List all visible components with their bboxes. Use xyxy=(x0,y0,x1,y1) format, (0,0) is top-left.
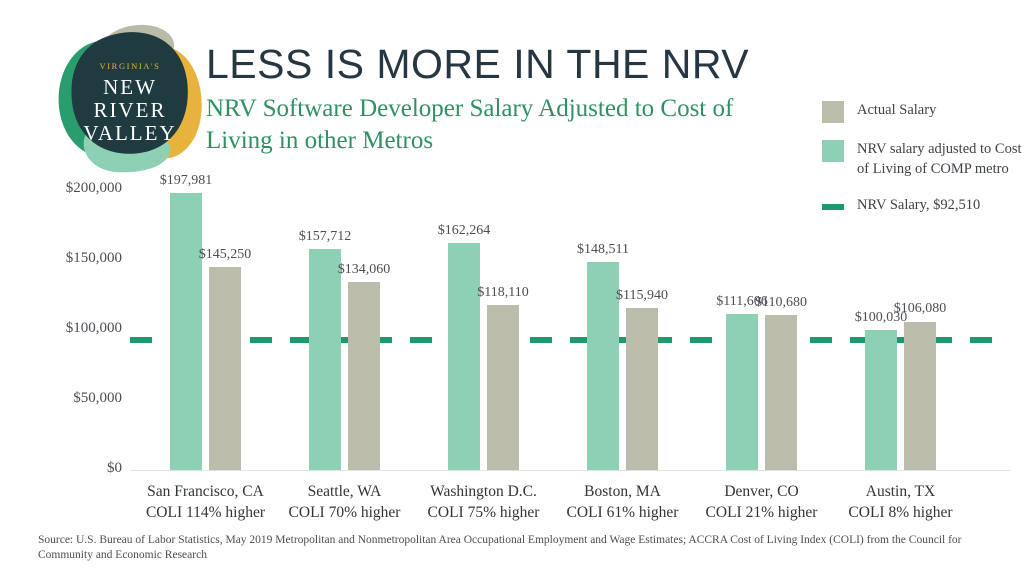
bar xyxy=(904,322,936,471)
x-axis-group-label: Boston, MACOLI 61% higher xyxy=(543,481,703,523)
bar xyxy=(209,267,241,470)
bar xyxy=(626,308,658,470)
bar-value-label: $157,712 xyxy=(280,229,370,245)
x-axis-city-name: Boston, MA xyxy=(543,481,703,502)
x-axis-group-label: San Francisco, CACOLI 114% higher xyxy=(126,481,286,523)
x-axis-city-name: San Francisco, CA xyxy=(126,481,286,502)
bar xyxy=(765,315,797,470)
x-axis-city-name: Seattle, WA xyxy=(265,481,425,502)
source-note: Source: U.S. Bureau of Labor Statistics,… xyxy=(38,533,998,563)
bar-value-label: $145,250 xyxy=(180,247,270,263)
x-axis-group-label: Denver, COCOLI 21% higher xyxy=(682,481,842,523)
bar xyxy=(448,243,480,470)
bar-value-label: $106,080 xyxy=(875,301,965,317)
x-axis-coli-note: COLI 70% higher xyxy=(265,502,425,523)
bar-value-label: $148,511 xyxy=(558,242,648,258)
x-axis-coli-note: COLI 75% higher xyxy=(404,502,564,523)
bar xyxy=(170,193,202,470)
x-axis-group-label: Seattle, WACOLI 70% higher xyxy=(265,481,425,523)
chart-page: VIRGINIA'S NEW RIVER VALLEY LESS IS MORE… xyxy=(0,0,1030,580)
bar-value-label: $115,940 xyxy=(597,288,687,304)
bar xyxy=(726,314,758,470)
x-axis-city-name: Denver, CO xyxy=(682,481,842,502)
bar xyxy=(309,249,341,470)
bar-value-label: $162,264 xyxy=(419,223,509,239)
bar-value-label: $197,981 xyxy=(141,173,231,189)
x-axis-coli-note: COLI 114% higher xyxy=(126,502,286,523)
x-axis-group-label: Austin, TXCOLI 8% higher xyxy=(821,481,981,523)
bar xyxy=(348,282,380,470)
x-axis-coli-note: COLI 8% higher xyxy=(821,502,981,523)
x-axis-city-name: Washington D.C. xyxy=(404,481,564,502)
x-axis-city-name: Austin, TX xyxy=(821,481,981,502)
x-axis-group-label: Washington D.C.COLI 75% higher xyxy=(404,481,564,523)
bar-value-label: $110,680 xyxy=(736,295,826,311)
bar-value-label: $134,060 xyxy=(319,262,409,278)
chart-plot-area: $0$50,000$100,000$150,000$200,000 San Fr… xyxy=(0,0,1030,580)
bar xyxy=(487,305,519,470)
bars-layer xyxy=(0,190,1030,470)
x-axis-coli-note: COLI 61% higher xyxy=(543,502,703,523)
x-axis-coli-note: COLI 21% higher xyxy=(682,502,842,523)
bar xyxy=(865,330,897,470)
x-axis-line xyxy=(130,470,1010,471)
bar-value-label: $118,110 xyxy=(458,285,548,301)
